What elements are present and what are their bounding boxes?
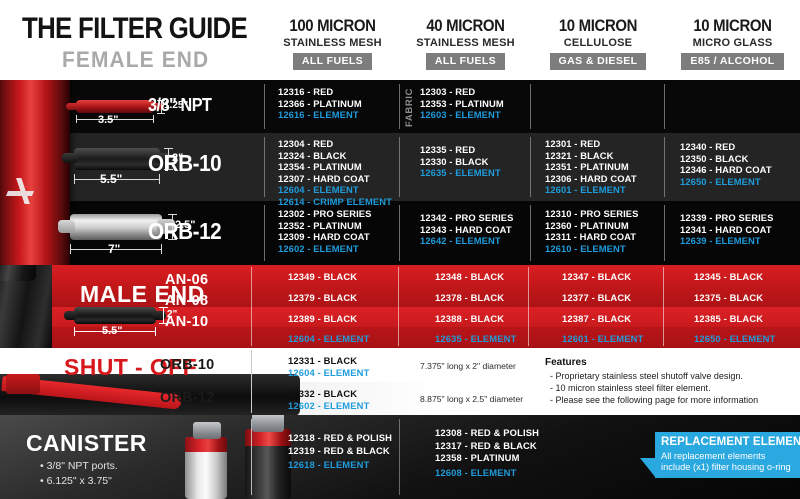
part-number-element: 12650 - ELEMENT — [694, 333, 775, 344]
replacement-callout-tail — [640, 458, 656, 478]
part-number: 12330 - BLACK — [420, 156, 501, 168]
column-fuel-pill: ALL FUELS — [426, 53, 505, 70]
part-number: 12324 - BLACK — [278, 150, 392, 162]
part-list-shutoff-orb10: 12331 - BLACK12604 - ELEMENT — [288, 355, 369, 379]
page-title: THE FILTER GUIDE — [22, 12, 247, 46]
column-media-label: STAINLESS MESH — [400, 37, 531, 49]
column-divider — [398, 267, 399, 346]
part-number-element: 12614 - CRIMP ELEMENT — [278, 196, 392, 208]
part-number: 12358 - PLATINUM — [435, 452, 539, 465]
part-number: 12349 - BLACK — [288, 271, 357, 282]
replacement-elements-title: REPLACEMENT ELEMENTS — [661, 436, 800, 448]
part-number: 12343 - HARD COAT — [420, 224, 514, 236]
part-number-element: 12618 - ELEMENT — [288, 457, 392, 473]
size-label-an10: AN-10 — [165, 314, 208, 330]
column-fuel-pill: GAS & DIESEL — [550, 53, 647, 70]
features-item: - 10 micron stainless steel filter eleme… — [550, 383, 711, 393]
column-divider — [530, 137, 531, 197]
part-number: 12301 - RED — [545, 138, 637, 150]
dimension-length-orb12: 7" — [108, 242, 120, 256]
part-list-orb10-10micron-cellulose: 12301 - RED12321 - BLACK12351 - PLATINUM… — [545, 138, 637, 196]
part-number: 12319 - RED & BLACK — [288, 445, 392, 458]
column-micron-label: 40 MICRON — [408, 16, 523, 36]
part-number: 12311 - HARD COAT — [545, 231, 639, 243]
column-header-40-micron: 40 MICRON STAINLESS MESH ALL FUELS — [400, 16, 531, 70]
column-header-10-micron-cellulose: 10 MICRON CELLULOSE GAS & DIESEL — [531, 16, 665, 70]
part-list-orb12-40micron: 12342 - PRO SERIES12343 - HARD COAT12642… — [420, 212, 514, 247]
part-number: 12335 - RED — [420, 144, 501, 156]
part-number: 12345 - BLACK — [694, 271, 763, 282]
shutoff-lever-pivot — [6, 374, 40, 394]
page-header: THE FILTER GUIDE FEMALE END 100 MICRON S… — [0, 0, 800, 80]
part-number: 12310 - PRO SERIES — [545, 208, 639, 220]
part-number: 12302 - PRO SERIES — [278, 208, 372, 220]
part-number: 12377 - BLACK — [562, 292, 631, 303]
part-number: 12366 - PLATINUM — [278, 98, 362, 110]
section-label-canister: CANISTER — [26, 430, 147, 457]
female-end-table: 3.5" 1.25" 3/8" NPT 5.5" 2" ORB-10 — [0, 80, 800, 265]
part-number: 12303 - RED — [420, 86, 504, 98]
part-list-npt-40micron: 12303 - RED12353 - PLATINUM12603 - ELEME… — [420, 86, 504, 121]
canister-bullet: • 3/8" NPT ports. — [40, 460, 118, 472]
part-number: 12348 - BLACK — [435, 271, 504, 282]
part-number: 12308 - RED & POLISH — [435, 427, 539, 440]
column-divider — [663, 267, 664, 346]
part-list-orb12-100micron: 12302 - PRO SERIES12352 - PLATINUM12309 … — [278, 208, 372, 254]
part-list-orb10-100micron: 12304 - RED12324 - BLACK12354 - PLATINUM… — [278, 138, 392, 208]
part-number-element: 12635 - ELEMENT — [420, 167, 501, 179]
part-number: 12389 - BLACK — [288, 313, 357, 324]
column-divider — [399, 419, 400, 495]
section-label-female-end: FEMALE END — [62, 47, 209, 73]
part-list-canister-100micron: 12318 - RED & POLISH12319 - RED & BLACK1… — [288, 432, 392, 473]
part-list-orb10-40micron: 12335 - RED12330 - BLACK12635 - ELEMENT — [420, 144, 501, 179]
part-number-element: 12639 - ELEMENT — [680, 235, 774, 247]
features-item: - Please see the following page for more… — [550, 395, 758, 405]
part-number: 12316 - RED — [278, 86, 362, 98]
part-number: 12387 - BLACK — [562, 313, 631, 324]
part-list-npt-100micron: 12316 - RED12366 - PLATINUM12616 - ELEME… — [278, 86, 362, 121]
part-number-element: 12602 - ELEMENT — [288, 400, 369, 412]
product-name-npt: 3/8" NPT — [148, 95, 212, 116]
replacement-elements-line1: All replacement elements — [661, 451, 765, 461]
column-divider — [664, 84, 665, 129]
part-number-element: 12610 - ELEMENT — [545, 243, 639, 255]
part-number: 12340 - RED — [680, 141, 772, 153]
part-number-element: 12604 - ELEMENT — [288, 333, 369, 344]
replacement-elements-line2: include (x1) filter housing o-ring — [661, 462, 791, 472]
features-item: - Proprietary stainless steel shutoff va… — [550, 371, 743, 381]
column-media-label: STAINLESS MESH — [265, 37, 400, 49]
part-number: 12350 - BLACK — [680, 153, 772, 165]
part-number-element: 12650 - ELEMENT — [680, 176, 772, 188]
column-divider — [399, 137, 400, 197]
filter-guide-page: THE FILTER GUIDE FEMALE END 100 MICRON S… — [0, 0, 800, 499]
column-divider — [251, 267, 252, 346]
canister-bullet: • 6.125" x 3.75" — [40, 475, 112, 487]
column-divider — [664, 205, 665, 261]
part-number: 12375 - BLACK — [694, 292, 763, 303]
part-list-orb10-10micron-microglass: 12340 - RED12350 - BLACK12346 - HARD COA… — [680, 141, 772, 187]
part-number: 12321 - BLACK — [545, 150, 637, 162]
product-name-orb10: ORB-10 — [148, 150, 221, 177]
part-list-orb12-10micron-microglass: 12339 - PRO SERIES12341 - HARD COAT12639… — [680, 212, 774, 247]
part-number: 12342 - PRO SERIES — [420, 212, 514, 224]
part-number-element: 12601 - ELEMENT — [562, 333, 643, 344]
part-number: 12346 - HARD COAT — [680, 164, 772, 176]
dimension-length-orb10: 5.5" — [100, 172, 122, 186]
column-divider — [251, 350, 252, 413]
shut-off-table: SHUT - OFF ORB-10 ORB-12 12331 - BLACK12… — [0, 348, 800, 415]
part-number: 12341 - HARD COAT — [680, 224, 774, 236]
column-divider — [399, 84, 400, 129]
part-number: 12378 - BLACK — [435, 292, 504, 303]
part-number: 12306 - HARD COAT — [545, 173, 637, 185]
column-micron-label: 10 MICRON — [673, 16, 792, 36]
dimension-shutoff-orb12: 8.875" long x 2.5" diameter — [420, 394, 523, 404]
part-number: 12318 - RED & POLISH — [288, 432, 392, 445]
part-number: 12331 - BLACK — [288, 355, 369, 367]
part-number: 12351 - PLATINUM — [545, 161, 637, 173]
part-number-element: 12604 - ELEMENT — [278, 184, 392, 196]
male-fitting-photo — [0, 265, 52, 348]
size-label-shutoff-orb12: ORB-12 — [160, 390, 214, 406]
column-divider — [664, 137, 665, 197]
column-fuel-pill: E85 / ALCOHOL — [681, 53, 783, 70]
part-number: 12332 - BLACK — [288, 388, 369, 400]
column-divider — [530, 205, 531, 261]
part-number: 12347 - BLACK — [562, 271, 631, 282]
column-divider — [264, 205, 265, 261]
part-number: 12307 - HARD COAT — [278, 173, 392, 185]
male-end-table: MALE END 5.5" 2" AN-06 AN-08 AN-10 12349… — [0, 265, 800, 348]
dimension-length-npt: 3.5" — [98, 114, 119, 126]
column-header-10-micron-micro-glass: 10 MICRON MICRO GLASS E85 / ALCOHOL — [665, 16, 800, 70]
dimension-shutoff-orb10: 7.375" long x 2" diameter — [420, 361, 516, 371]
size-label-an08: AN-08 — [165, 293, 208, 309]
aeromotive-logo-icon — [5, 178, 41, 204]
fabric-label: FABRIC — [404, 88, 415, 127]
part-number: 12388 - BLACK — [435, 313, 504, 324]
part-number-element: 12602 - ELEMENT — [278, 243, 372, 255]
part-list-orb12-10micron-cellulose: 12310 - PRO SERIES12360 - PLATINUM12311 … — [545, 208, 639, 254]
part-number: 12354 - PLATINUM — [278, 161, 392, 173]
dimension-length-male: 5.5" — [102, 325, 123, 337]
part-number-element: 12608 - ELEMENT — [435, 465, 539, 481]
column-divider — [528, 267, 529, 346]
column-header-100-micron: 100 MICRON STAINLESS MESH ALL FUELS — [265, 16, 400, 70]
part-number-element: 12616 - ELEMENT — [278, 109, 362, 121]
part-number: 12379 - BLACK — [288, 292, 357, 303]
column-divider — [399, 205, 400, 261]
column-micron-label: 100 MICRON — [273, 16, 392, 36]
part-number-element: 12642 - ELEMENT — [420, 235, 514, 247]
column-divider — [264, 137, 265, 197]
part-number: 12309 - HARD COAT — [278, 231, 372, 243]
part-number: 12353 - PLATINUM — [420, 98, 504, 110]
part-number-element: 12635 - ELEMENT — [435, 333, 516, 344]
part-list-shutoff-orb12: 12332 - BLACK12602 - ELEMENT — [288, 388, 369, 412]
size-label-shutoff-orb10: ORB-10 — [160, 357, 214, 373]
column-divider — [264, 84, 265, 129]
size-label-an06: AN-06 — [165, 272, 208, 288]
part-number: 12304 - RED — [278, 138, 392, 150]
part-number-element: 12603 - ELEMENT — [420, 109, 504, 121]
part-number-element: 12601 - ELEMENT — [545, 184, 637, 196]
part-number: 12385 - BLACK — [694, 313, 763, 324]
part-number: 12360 - PLATINUM — [545, 220, 639, 232]
product-name-orb12: ORB-12 — [148, 218, 221, 245]
part-list-canister-10micron-cellulose: 12308 - RED & POLISH12317 - RED & BLACK1… — [435, 427, 539, 481]
column-divider — [530, 84, 531, 129]
part-number: 12317 - RED & BLACK — [435, 440, 539, 453]
column-media-label: CELLULOSE — [531, 37, 665, 49]
column-fuel-pill: ALL FUELS — [293, 53, 372, 70]
part-number: 12352 - PLATINUM — [278, 220, 372, 232]
column-divider — [251, 419, 252, 495]
column-micron-label: 10 MICRON — [539, 16, 657, 36]
part-number: 12339 - PRO SERIES — [680, 212, 774, 224]
part-number-element: 12604 - ELEMENT — [288, 367, 369, 379]
column-media-label: MICRO GLASS — [665, 37, 800, 49]
features-title: Features — [545, 357, 587, 368]
